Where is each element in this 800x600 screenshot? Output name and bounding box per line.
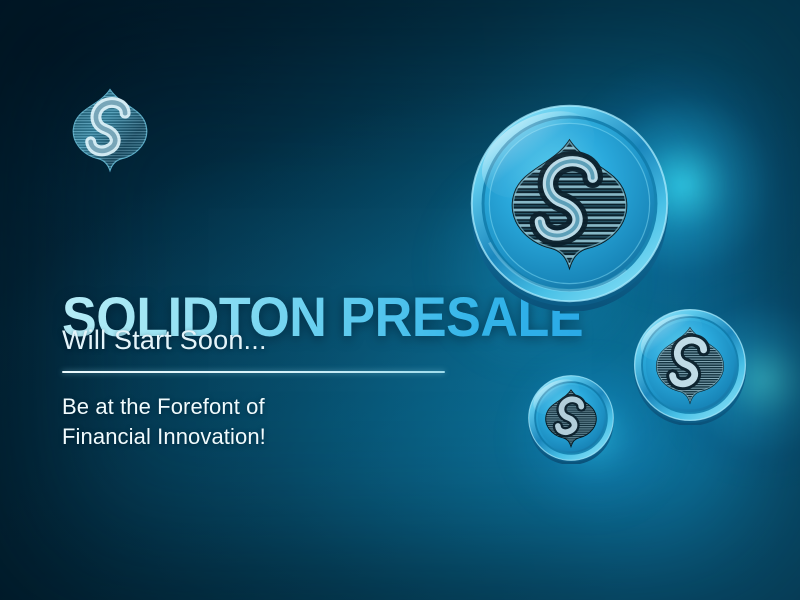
solidton-logo[interactable] [68, 82, 152, 178]
tagline-line-2: Financial Innovation! [62, 422, 266, 452]
tagline-block: Be at the Forefont of Financial Innovati… [62, 392, 266, 453]
coin-small[interactable] [525, 372, 617, 464]
coin-large[interactable] [462, 96, 677, 311]
tagline-line-1: Be at the Forefont of [62, 392, 266, 422]
coin-large-graphic [462, 96, 677, 311]
divider-rule [62, 371, 445, 373]
coin-small-graphic [525, 372, 617, 464]
presale-banner: SOLIDTON PRESALE Will Start Soon... Be a… [0, 0, 800, 600]
subtitle-text: Will Start Soon... [62, 325, 267, 356]
coin-medium[interactable] [630, 305, 750, 425]
coin-medium-graphic [630, 305, 750, 425]
solidton-logo-icon [68, 82, 152, 178]
